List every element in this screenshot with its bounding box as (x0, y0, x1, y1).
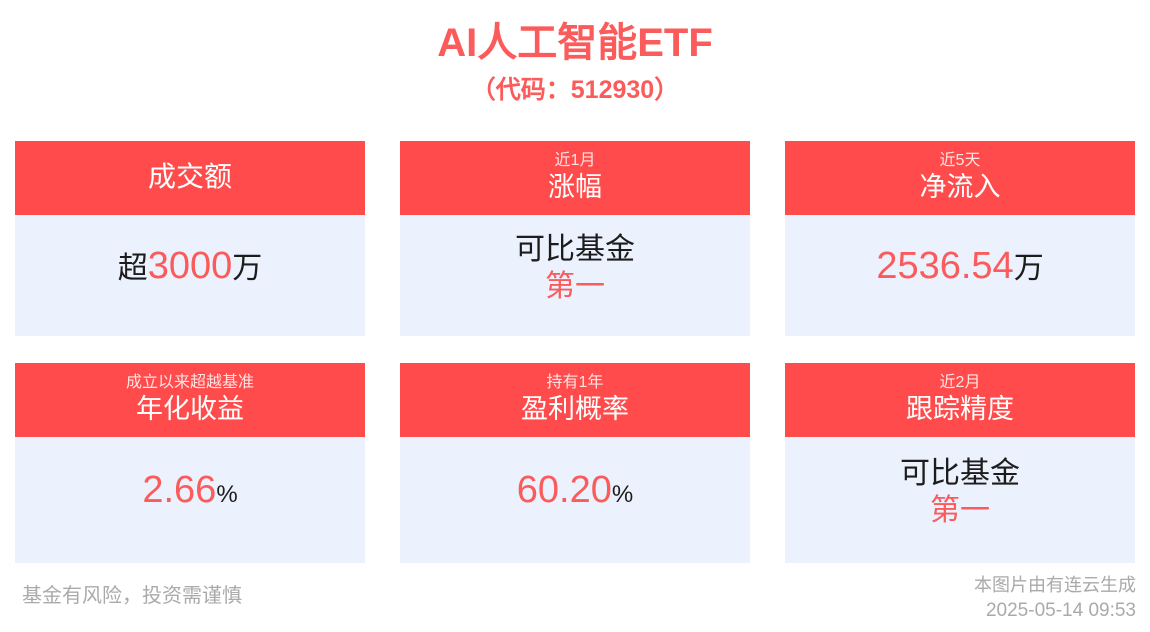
value-unit: 万 (1014, 252, 1044, 285)
card-value: 2536.54万 (876, 243, 1043, 292)
card-title: 涨幅 (548, 171, 602, 204)
value-number: 2.66 (142, 469, 216, 511)
metric-card-profit-probability[interactable]: 持有1年 盈利概率 60.20% (400, 363, 750, 563)
value-number: 2536.54 (876, 245, 1013, 287)
value-text-primary: 可比基金 (515, 231, 635, 269)
card-header: 近2月 跟踪精度 (785, 363, 1135, 437)
image-credit: 本图片由有连云生成 2025-05-14 09:53 (974, 572, 1136, 624)
page-header: AI人工智能ETF （代码：512930） (0, 0, 1150, 110)
value-text-rank: 第一 (930, 493, 990, 529)
card-eyebrow: 近5天 (940, 151, 981, 171)
card-title: 盈利概率 (521, 393, 629, 426)
card-title: 年化收益 (136, 393, 244, 426)
card-header: 成交额 (15, 141, 365, 215)
card-body: 可比基金 第一 (785, 437, 1135, 563)
card-header: 成立以来超越基准 年化收益 (15, 363, 365, 437)
card-eyebrow: 成立以来超越基准 (126, 373, 254, 393)
card-title: 跟踪精度 (906, 393, 1014, 426)
value-text-rank: 第一 (545, 269, 605, 305)
value-text-primary: 可比基金 (900, 455, 1020, 493)
metric-card-annualized-return[interactable]: 成立以来超越基准 年化收益 2.66% (15, 363, 365, 563)
card-eyebrow: 持有1年 (547, 373, 604, 393)
card-header: 持有1年 盈利概率 (400, 363, 750, 437)
metric-card-tracking-accuracy[interactable]: 近2月 跟踪精度 可比基金 第一 (785, 363, 1135, 563)
card-value: 2.66% (142, 467, 237, 518)
card-title: 净流入 (920, 171, 1001, 204)
card-body: 超3000万 (15, 215, 365, 336)
value-prefix: 超 (118, 252, 148, 285)
value-number: 60.20 (517, 469, 612, 511)
value-unit: % (216, 481, 237, 508)
card-title: 成交额 (148, 160, 232, 194)
card-header: 近5天 净流入 (785, 141, 1135, 215)
card-body: 60.20% (400, 437, 750, 563)
card-value: 60.20% (517, 467, 633, 518)
metric-card-grid: 成交额 超3000万 近1月 涨幅 可比基金 第一 近5天 净流入 2536.5… (15, 141, 1135, 563)
generation-timestamp: 2025-05-14 09:53 (974, 598, 1136, 624)
card-eyebrow: 近2月 (940, 373, 981, 393)
metric-card-1month-gain[interactable]: 近1月 涨幅 可比基金 第一 (400, 141, 750, 336)
metric-card-5day-netinflow[interactable]: 近5天 净流入 2536.54万 (785, 141, 1135, 336)
fund-code: （代码：512930） (0, 70, 1150, 110)
card-body: 2.66% (15, 437, 365, 563)
page-title: AI人工智能ETF (0, 18, 1150, 68)
value-number: 3000 (148, 245, 233, 287)
metric-card-turnover[interactable]: 成交额 超3000万 (15, 141, 365, 336)
card-body: 2536.54万 (785, 215, 1135, 336)
card-eyebrow: 近1月 (555, 151, 596, 171)
value-unit: % (612, 481, 633, 508)
credit-source: 本图片由有连云生成 (974, 572, 1136, 598)
card-body: 可比基金 第一 (400, 215, 750, 336)
risk-disclaimer: 基金有风险，投资需谨慎 (22, 582, 242, 610)
card-value: 超3000万 (118, 243, 263, 292)
card-header: 近1月 涨幅 (400, 141, 750, 215)
page-footer: 基金有风险，投资需谨慎 本图片由有连云生成 2025-05-14 09:53 (0, 570, 1150, 632)
value-unit: 万 (232, 252, 262, 285)
